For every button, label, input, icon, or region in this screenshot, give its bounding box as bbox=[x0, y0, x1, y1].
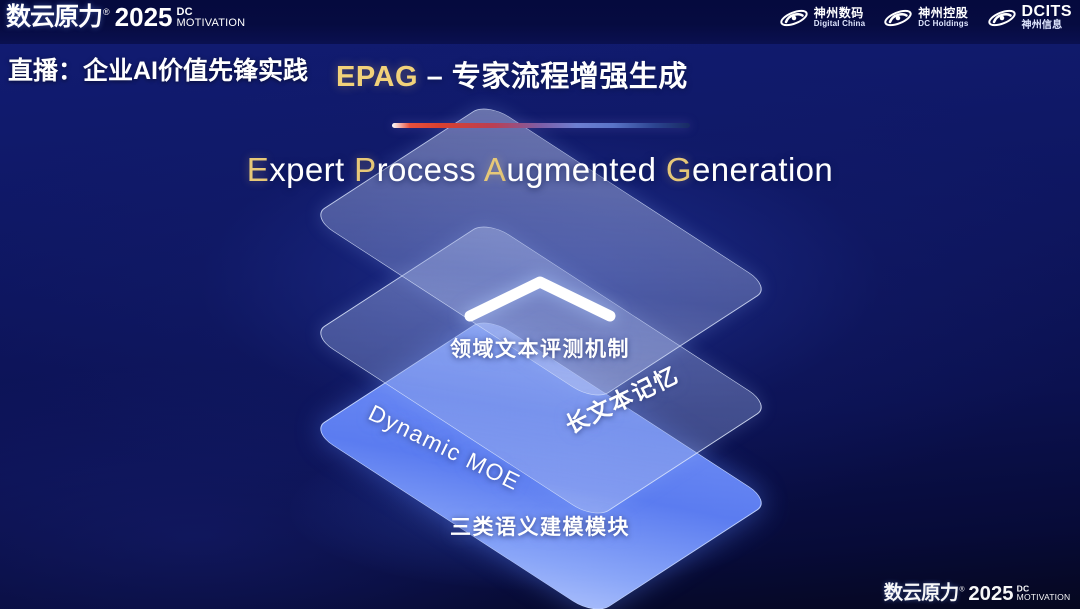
subtitle-word-expert: xpert bbox=[269, 151, 354, 188]
brand-dc-motivation: DC MOTIVATION bbox=[1016, 585, 1070, 602]
partner-name-en: DCITS bbox=[1022, 4, 1073, 21]
subtitle-word-augmented: ugmented bbox=[506, 151, 666, 188]
title-acronym: EPAG bbox=[336, 61, 418, 93]
partner-logo-dc-holdings: 神州控股 DC Holdings bbox=[883, 7, 968, 29]
subtitle: Expert Process Augmented Generation bbox=[0, 151, 1080, 189]
partner-label: 神州数码 Digital China bbox=[814, 7, 866, 28]
partner-label: DCITS 神州信息 bbox=[1022, 4, 1073, 31]
brand-logo-watermark: 数云原力 ® 2025 DC MOTIVATION bbox=[883, 583, 1070, 603]
brand-name-cn: 数云原力 bbox=[6, 5, 102, 30]
swirl-logo-icon bbox=[779, 7, 809, 29]
registered-mark-icon: ® bbox=[103, 7, 110, 17]
partner-label: 神州控股 DC Holdings bbox=[918, 7, 968, 28]
brand-name-cn: 数云原力 bbox=[883, 584, 958, 604]
subtitle-word-generation: eneration bbox=[692, 151, 833, 188]
swirl-logo-icon bbox=[883, 7, 913, 29]
registered-mark-icon: ® bbox=[959, 585, 964, 593]
partner-name-cn: 神州信息 bbox=[1022, 21, 1073, 32]
subtitle-cap-g: G bbox=[666, 151, 692, 188]
partner-name-en: DC Holdings bbox=[918, 20, 968, 28]
subtitle-cap-a: A bbox=[484, 151, 506, 188]
brand-motivation: MOTIVATION bbox=[1016, 594, 1070, 603]
subtitle-cap-e: E bbox=[247, 151, 269, 188]
gradient-divider bbox=[392, 123, 690, 128]
brand-logo-top: 数云原力 ® 2025 DC MOTIVATION bbox=[6, 4, 245, 30]
partner-name-cn: 神州控股 bbox=[918, 7, 968, 20]
brand-motivation: MOTIVATION bbox=[177, 18, 246, 29]
partner-logo-group: 神州数码 Digital China 神州控股 DC Holdings bbox=[779, 4, 1072, 31]
partner-logo-digital-china: 神州数码 Digital China bbox=[779, 7, 866, 29]
brand-dc-motivation: DC MOTIVATION bbox=[177, 7, 246, 29]
live-stream-title: 直播：企业AI价值先锋实践 bbox=[8, 51, 308, 87]
page-title: EPAG – 专家流程增强生成 bbox=[336, 53, 688, 95]
presentation-slide: 数云原力 ® 2025 DC MOTIVATION 神州数码 Digital C… bbox=[0, 0, 1080, 609]
partner-name-cn: 神州数码 bbox=[814, 7, 866, 20]
swirl-logo-icon bbox=[987, 7, 1017, 29]
partner-name-en: Digital China bbox=[814, 20, 866, 28]
partner-logo-dcits: DCITS 神州信息 bbox=[987, 4, 1073, 31]
subtitle-cap-p: P bbox=[354, 151, 376, 188]
subtitle-word-process: rocess bbox=[377, 151, 484, 188]
brand-year: 2025 bbox=[115, 4, 173, 30]
brand-year: 2025 bbox=[968, 583, 1013, 603]
title-chinese: – 专家流程增强生成 bbox=[418, 61, 688, 93]
